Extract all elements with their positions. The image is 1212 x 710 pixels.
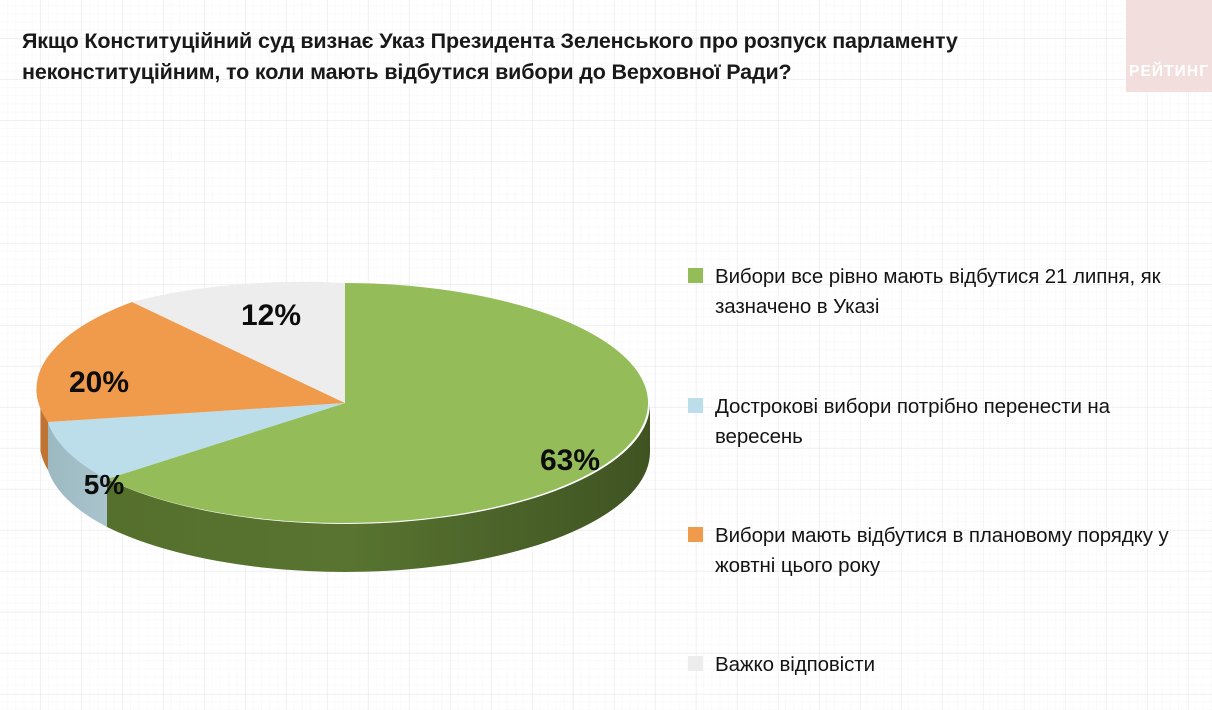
legend-label-line-1: Вибори все рівно мають відбутися 21 липн… <box>715 265 1161 288</box>
rating-watermark-label: РЕЙТИНГ <box>1129 62 1212 81</box>
chart-title: Якщо Конституційний суд визнає Указ През… <box>22 26 1112 88</box>
pie-label-orange: 20% <box>69 366 129 399</box>
legend-item-july-21[interactable]: Вибори все рівно мають відбутися 21 липн… <box>688 262 1204 322</box>
legend-swatch-blue <box>688 398 703 413</box>
legend-label-line-2: зазначено в Указі <box>715 295 879 318</box>
legend-label-line-2: жовтні цього року <box>715 554 880 577</box>
legend-swatch-gray <box>688 656 703 671</box>
chart-title-line-2: неконституційним, то коли мають відбутис… <box>22 57 1112 88</box>
legend-label-line-1: Достроковi вибори потрібно перенести на <box>715 395 1110 418</box>
pie-label-green: 63% <box>540 444 600 477</box>
legend-label-september: Достроковi вибори потрібно перенести на … <box>715 392 1110 452</box>
legend-label-hard-to-answer: Важко відповісти <box>715 650 875 680</box>
legend-item-september[interactable]: Достроковi вибори потрібно перенести на … <box>688 392 1204 452</box>
legend-label-october: Вибори мають відбутися в плановому поряд… <box>715 521 1169 581</box>
legend-item-october[interactable]: Вибори мають відбутися в плановому поряд… <box>688 521 1204 581</box>
legend-label-line-2: вересень <box>715 425 803 448</box>
legend-item-hard-to-answer[interactable]: Важко відповісти <box>688 650 1204 680</box>
legend-label-line-1: Вибори мають відбутися в плановому поряд… <box>715 524 1169 547</box>
legend-label-line-1: Важко відповісти <box>715 653 875 676</box>
pie-chart: 63% 5% 20% 12% <box>0 255 690 675</box>
pie-label-blue: 5% <box>84 469 125 500</box>
legend-swatch-green <box>688 268 703 283</box>
legend-label-july-21: Вибори все рівно мають відбутися 21 липн… <box>715 262 1161 322</box>
legend-swatch-orange <box>688 527 703 542</box>
pie-chart-svg: 63% 5% 20% 12% <box>0 255 690 675</box>
pie-label-gray: 12% <box>241 299 301 332</box>
chart-title-line-1: Якщо Конституційний суд визнає Указ През… <box>22 26 1112 57</box>
